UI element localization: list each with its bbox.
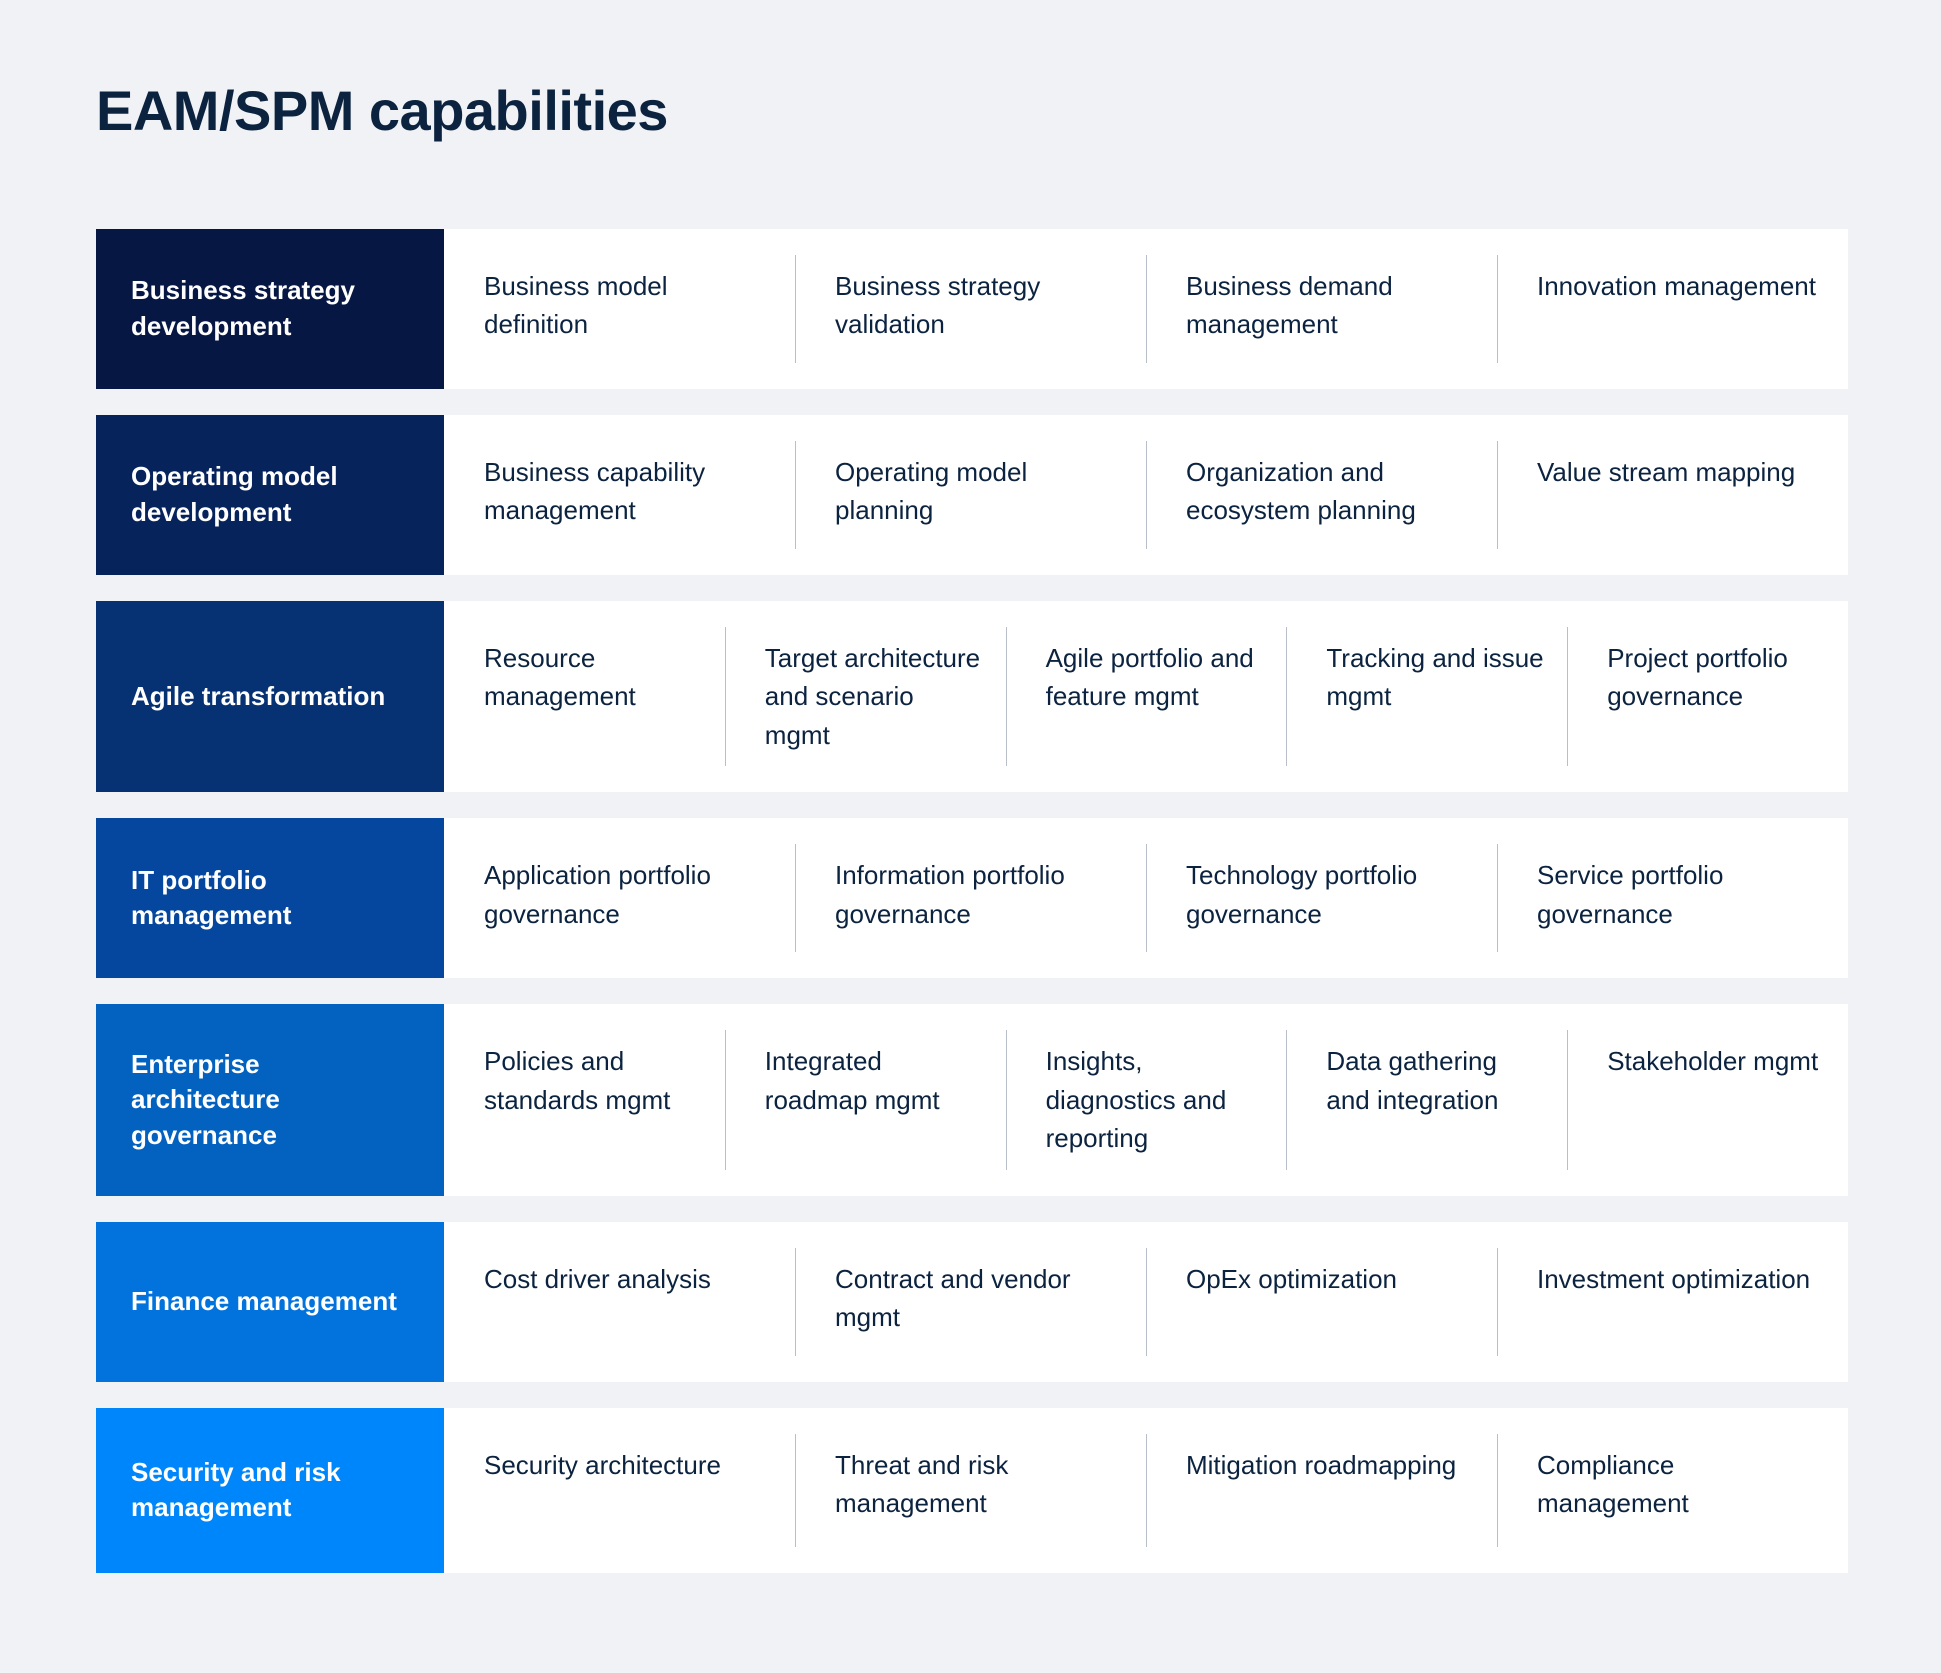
capability-label: Tracking and issue mgmt <box>1326 639 1545 716</box>
row-items: Cost driver analysis Contract and vendor… <box>444 1222 1848 1382</box>
row-label-business-strategy-development[interactable]: Business strategy development <box>96 229 444 389</box>
capability-cell[interactable]: Value stream mapping <box>1497 415 1848 575</box>
capability-matrix-page: EAM/SPM capabilities Business strategy d… <box>0 0 1941 1673</box>
capability-cell[interactable]: Resource management <box>444 601 725 792</box>
row-items: Business model definition Business strat… <box>444 229 1848 389</box>
row-label-security-and-risk-management[interactable]: Security and risk management <box>96 1408 444 1573</box>
capability-cell[interactable]: Security architecture <box>444 1408 795 1573</box>
capability-label: Insights, diagnostics and reporting <box>1046 1042 1265 1157</box>
capability-row: Agile transformation Resource management… <box>96 601 1848 792</box>
capability-cell[interactable]: Target architecture and scenario mgmt <box>725 601 1006 792</box>
capability-row: Security and risk management Security ar… <box>96 1408 1848 1573</box>
row-items: Policies and standards mgmt Integrated r… <box>444 1004 1848 1195</box>
capability-cell[interactable]: Mitigation roadmapping <box>1146 1408 1497 1573</box>
capability-label: Operating model planning <box>835 453 1124 530</box>
capability-cell[interactable]: Stakeholder mgmt <box>1567 1004 1848 1195</box>
capability-label: Value stream mapping <box>1537 453 1795 491</box>
capability-label: Project portfolio governance <box>1607 639 1826 716</box>
capability-cell[interactable]: Insights, diagnostics and reporting <box>1006 1004 1287 1195</box>
capability-label: OpEx optimization <box>1186 1260 1397 1298</box>
capability-cell[interactable]: Data gathering and integration <box>1286 1004 1567 1195</box>
capability-label: Integrated roadmap mgmt <box>765 1042 984 1119</box>
capability-row: Finance management Cost driver analysis … <box>96 1222 1848 1382</box>
row-label-enterprise-architecture-governance[interactable]: Enterprise architecture governance <box>96 1004 444 1195</box>
row-items: Application portfolio governance Informa… <box>444 818 1848 978</box>
capability-label: Data gathering and integration <box>1326 1042 1545 1119</box>
capability-label: Technology portfolio governance <box>1186 856 1475 933</box>
capability-cell[interactable]: Information portfolio governance <box>795 818 1146 978</box>
capability-row: IT portfolio management Application port… <box>96 818 1848 978</box>
capability-cell[interactable]: Integrated roadmap mgmt <box>725 1004 1006 1195</box>
row-label-text: IT portfolio management <box>131 863 414 934</box>
capability-cell[interactable]: Business strategy validation <box>795 229 1146 389</box>
row-label-text: Agile transformation <box>131 679 385 715</box>
capability-label: Mitigation roadmapping <box>1186 1446 1456 1484</box>
capability-cell[interactable]: Cost driver analysis <box>444 1222 795 1382</box>
capability-cell[interactable]: Threat and risk management <box>795 1408 1146 1573</box>
capability-label: Business model definition <box>484 267 773 344</box>
row-label-agile-transformation[interactable]: Agile transformation <box>96 601 444 792</box>
capability-label: Compliance management <box>1537 1446 1826 1523</box>
capability-cell[interactable]: Business capability management <box>444 415 795 575</box>
row-label-text: Business strategy development <box>131 273 414 344</box>
capability-label: Business strategy validation <box>835 267 1124 344</box>
capability-label: Cost driver analysis <box>484 1260 711 1298</box>
capability-label: Stakeholder mgmt <box>1607 1042 1818 1080</box>
capability-cell[interactable]: Tracking and issue mgmt <box>1286 601 1567 792</box>
row-label-text: Finance management <box>131 1284 397 1320</box>
capability-cell[interactable]: Technology portfolio governance <box>1146 818 1497 978</box>
capability-label: Resource management <box>484 639 703 716</box>
capability-cell[interactable]: Business model definition <box>444 229 795 389</box>
capability-cell[interactable]: Agile portfolio and feature mgmt <box>1006 601 1287 792</box>
capability-cell[interactable]: Application portfolio governance <box>444 818 795 978</box>
capability-label: Contract and vendor mgmt <box>835 1260 1124 1337</box>
row-label-text: Enterprise architecture governance <box>131 1047 414 1154</box>
capability-cell[interactable]: Project portfolio governance <box>1567 601 1848 792</box>
capability-cell[interactable]: OpEx optimization <box>1146 1222 1497 1382</box>
capability-cell[interactable]: Policies and standards mgmt <box>444 1004 725 1195</box>
row-label-text: Security and risk management <box>131 1455 414 1526</box>
row-label-finance-management[interactable]: Finance management <box>96 1222 444 1382</box>
capability-cell[interactable]: Compliance management <box>1497 1408 1848 1573</box>
capability-cell[interactable]: Organization and ecosystem planning <box>1146 415 1497 575</box>
row-items: Security architecture Threat and risk ma… <box>444 1408 1848 1573</box>
capability-matrix: Business strategy development Business m… <box>96 229 1848 1573</box>
capability-cell[interactable]: Operating model planning <box>795 415 1146 575</box>
capability-label: Threat and risk management <box>835 1446 1124 1523</box>
capability-label: Service portfolio governance <box>1537 856 1826 933</box>
capability-label: Target architecture and scenario mgmt <box>765 639 984 754</box>
capability-label: Policies and standards mgmt <box>484 1042 703 1119</box>
capability-cell[interactable]: Contract and vendor mgmt <box>795 1222 1146 1382</box>
capability-cell[interactable]: Investment optimization <box>1497 1222 1848 1382</box>
capability-label: Application portfolio governance <box>484 856 773 933</box>
row-items: Business capability management Operating… <box>444 415 1848 575</box>
capability-label: Business capability management <box>484 453 773 530</box>
capability-row: Business strategy development Business m… <box>96 229 1848 389</box>
capability-label: Investment optimization <box>1537 1260 1810 1298</box>
page-title: EAM/SPM capabilities <box>96 82 668 141</box>
capability-label: Organization and ecosystem planning <box>1186 453 1475 530</box>
capability-cell[interactable]: Innovation management <box>1497 229 1848 389</box>
capability-row: Enterprise architecture governance Polic… <box>96 1004 1848 1195</box>
capability-label: Information portfolio governance <box>835 856 1124 933</box>
row-label-text: Operating model development <box>131 459 414 530</box>
capability-row: Operating model development Business cap… <box>96 415 1848 575</box>
capability-label: Business demand management <box>1186 267 1475 344</box>
capability-cell[interactable]: Service portfolio governance <box>1497 818 1848 978</box>
capability-label: Agile portfolio and feature mgmt <box>1046 639 1265 716</box>
capability-cell[interactable]: Business demand management <box>1146 229 1497 389</box>
row-items: Resource management Target architecture … <box>444 601 1848 792</box>
capability-label: Security architecture <box>484 1446 721 1484</box>
row-label-operating-model-development[interactable]: Operating model development <box>96 415 444 575</box>
capability-label: Innovation management <box>1537 267 1816 305</box>
row-label-it-portfolio-management[interactable]: IT portfolio management <box>96 818 444 978</box>
